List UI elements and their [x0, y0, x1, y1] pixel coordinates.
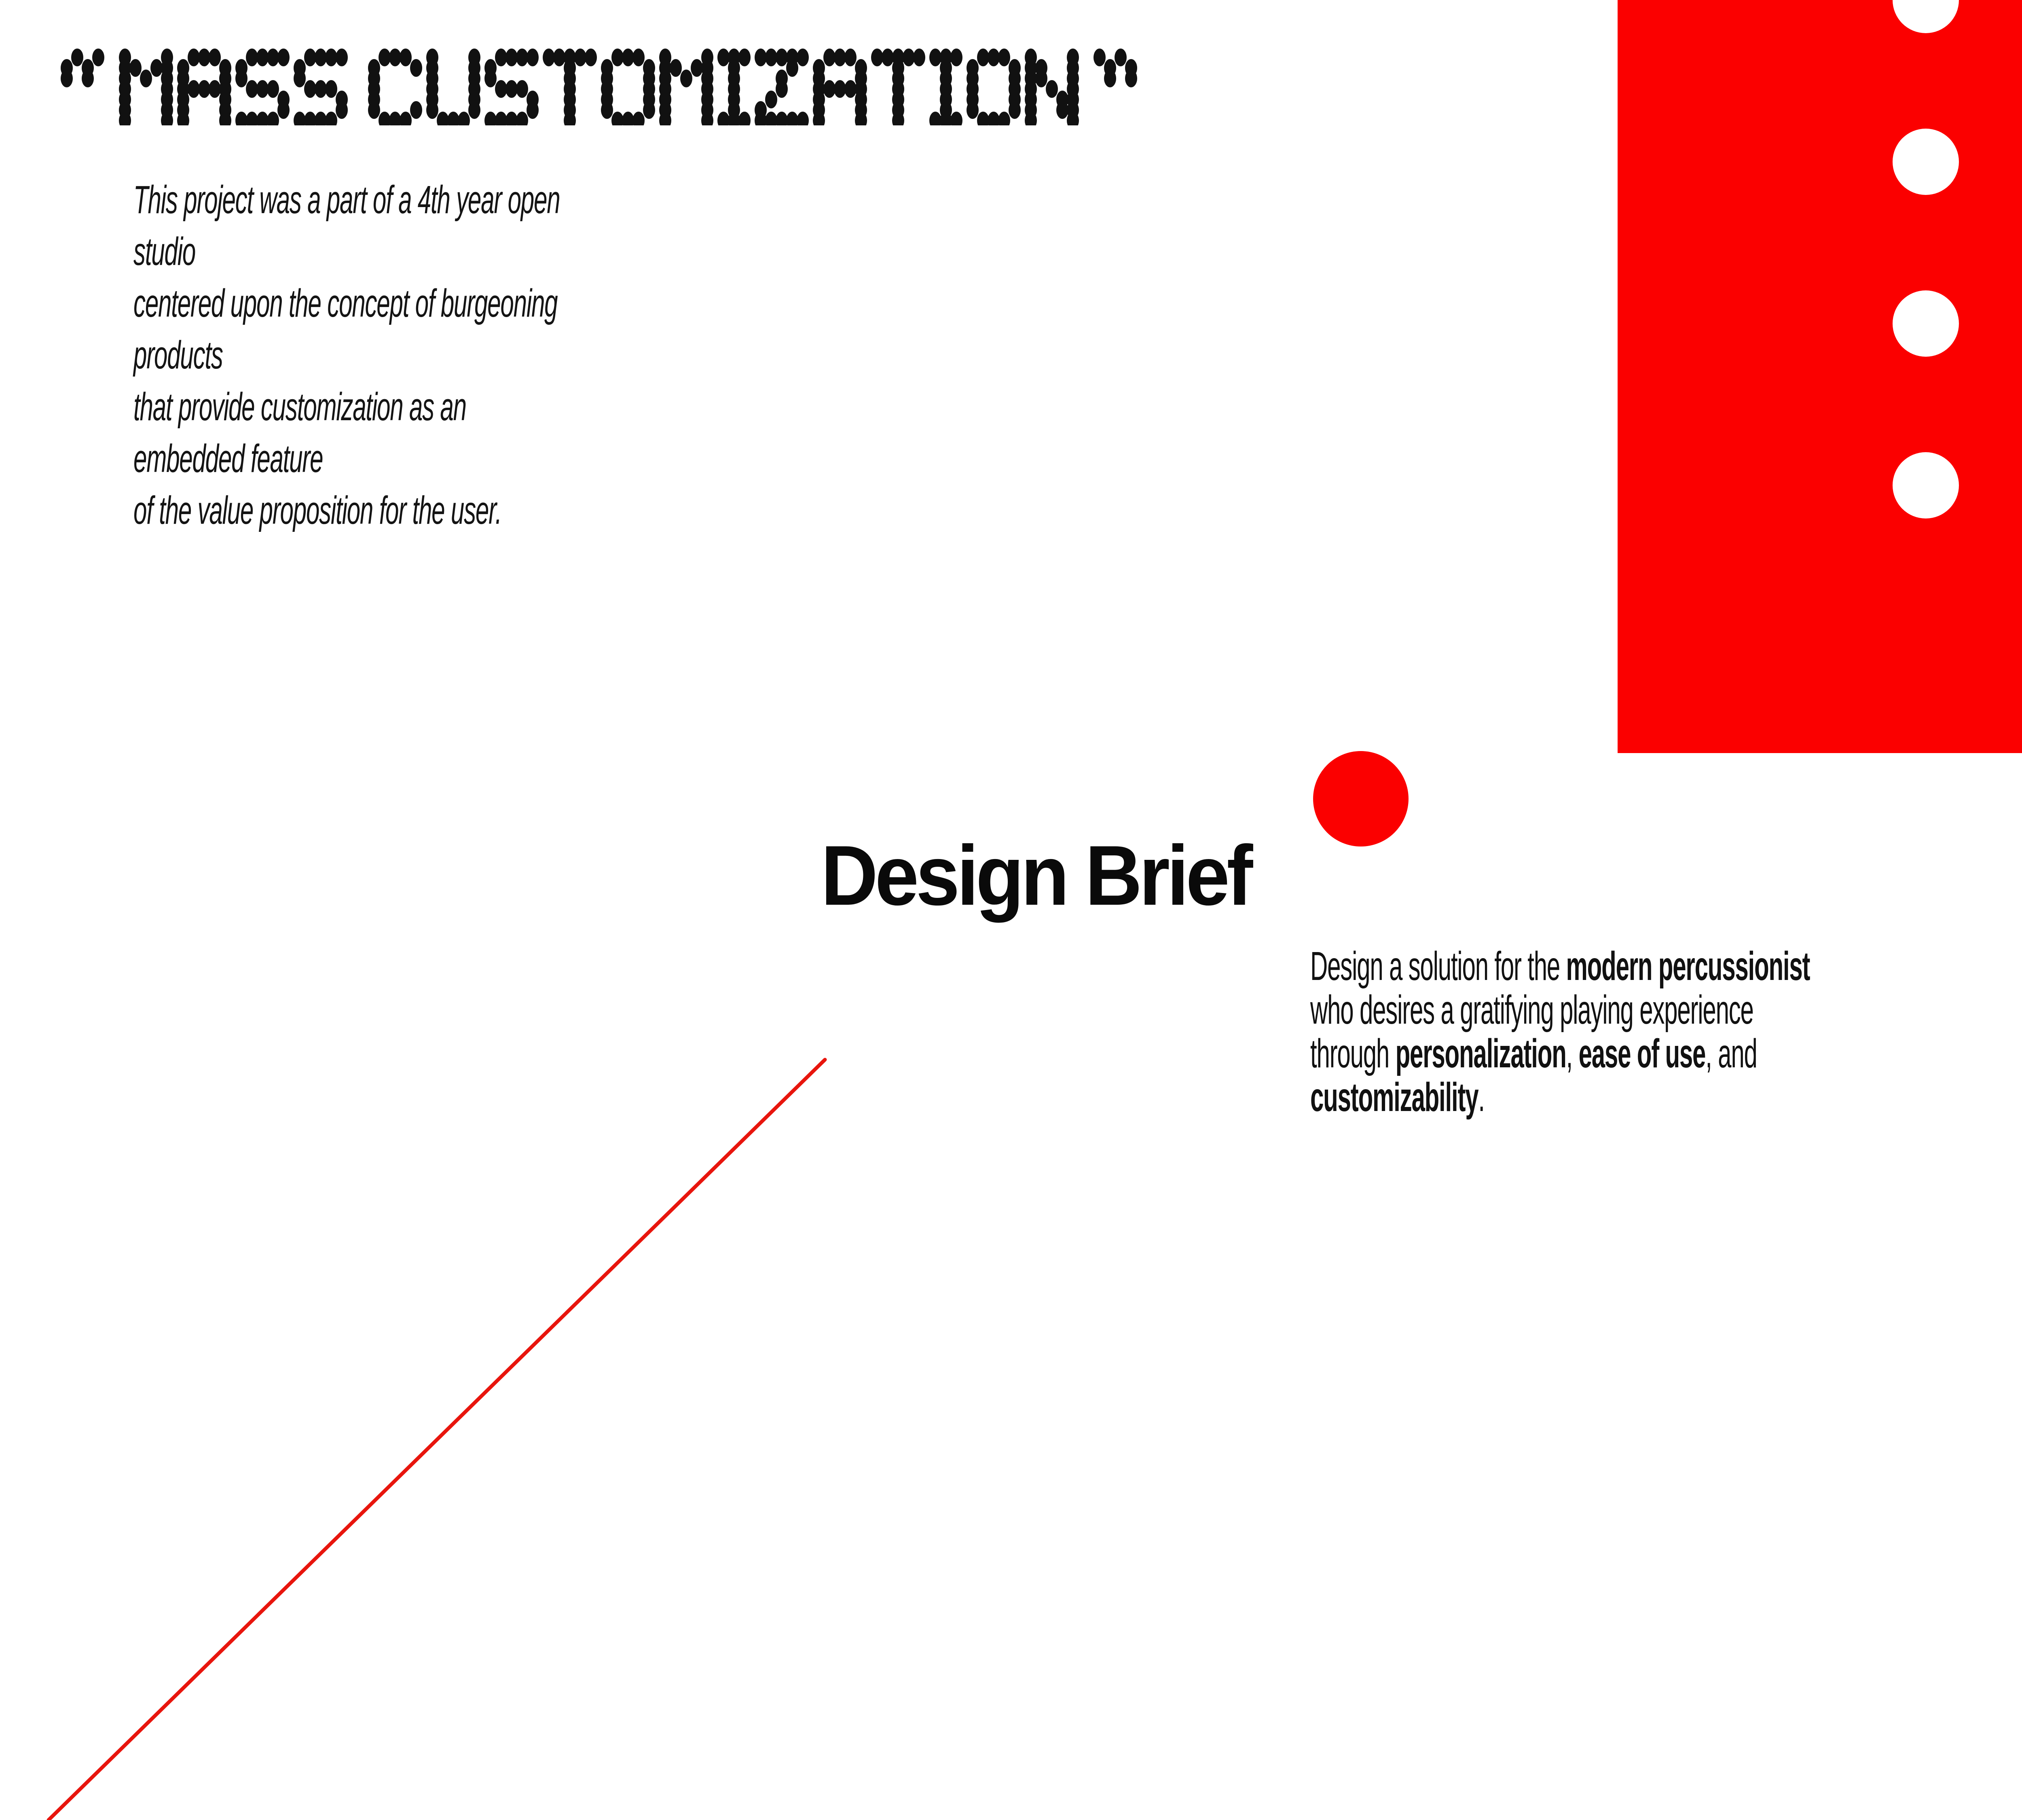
brief-text: .	[1478, 1075, 1484, 1120]
slide-canvas: “MASS CUSTOMIZATION” This project was a …	[0, 0, 2022, 1820]
page-title: “MASS CUSTOMIZATION”	[61, 49, 1153, 125]
brief-text: , and	[1705, 1031, 1757, 1076]
red-diagonal-rule	[0, 1052, 890, 1820]
brief-emphasis: personalization	[1396, 1031, 1566, 1076]
project-intro-paragraph: This project was a part of a 4th year op…	[133, 174, 575, 536]
brief-text: Design a solution for the	[1310, 944, 1566, 989]
brief-heading: Design Brief	[821, 833, 1250, 918]
brief-marker-dot	[1313, 751, 1409, 847]
brief-emphasis: customizability	[1310, 1075, 1478, 1120]
hero-image-panel: 120 BPM	[1618, 0, 2022, 753]
brief-text: ,	[1566, 1031, 1579, 1076]
product-photo-metronome: 120 BPM	[1618, 0, 2022, 753]
brief-body-paragraph: Design a solution for the modern percuss…	[1310, 944, 1820, 1119]
brief-emphasis: modern percussionist	[1566, 944, 1810, 989]
brief-emphasis: ease of use	[1579, 1031, 1706, 1076]
